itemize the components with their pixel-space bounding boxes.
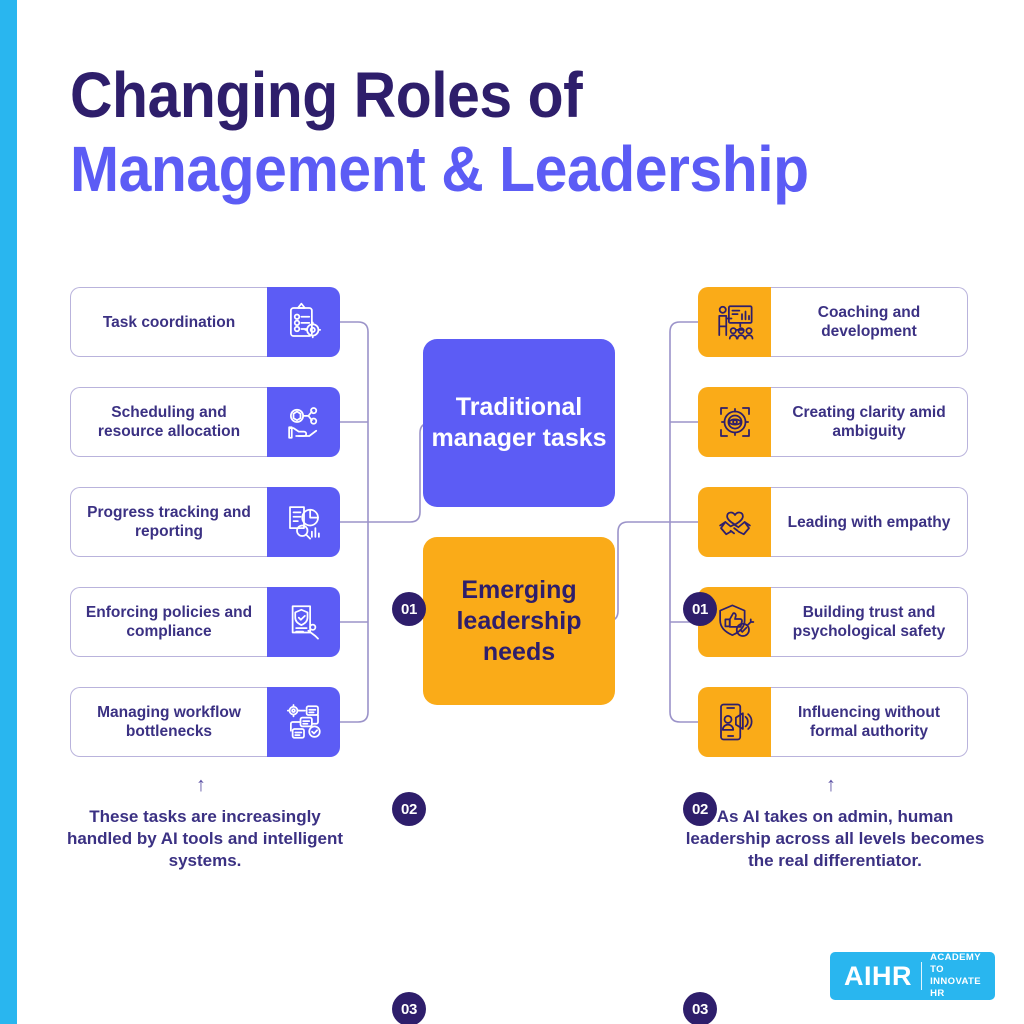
left-card-2-text: Scheduling and resource allocation	[70, 387, 267, 457]
left-badge-1: 01	[392, 592, 426, 626]
logo-tagline: ACADEMY TO INNOVATE HR	[930, 952, 981, 1000]
left-badge-2: 02	[392, 792, 426, 826]
left-card-1[interactable]: Task coordination 01	[70, 287, 340, 357]
left-card-5[interactable]: Managing workflow bottlenecks 05	[70, 687, 340, 757]
left-card-1-text: Task coordination	[70, 287, 267, 357]
left-note-arrow: ↑	[196, 775, 206, 795]
workflow-gear-nodes-icon	[267, 687, 340, 757]
target-eye-focus-icon	[698, 387, 771, 457]
logo-wordmark: AIHR	[844, 963, 912, 990]
right-note: As AI takes on admin, human leadership a…	[680, 806, 990, 872]
left-card-3[interactable]: Progress tracking and reporting 03	[70, 487, 340, 557]
right-card-1-text: Coaching and development	[771, 287, 968, 357]
right-card-4[interactable]: Building trust and psychological safety …	[698, 587, 968, 657]
aihr-logo: AIHR ACADEMY TO INNOVATE HR	[830, 952, 995, 1000]
right-note-arrow: ↑	[826, 775, 836, 795]
left-card-2[interactable]: Scheduling and resource allocation 02	[70, 387, 340, 457]
left-card-4-text: Enforcing policies and compliance	[70, 587, 267, 657]
logo-tagline-line1: ACADEMY TO	[930, 952, 981, 976]
infographic-canvas: Changing Roles of Management & Leadershi…	[0, 0, 1024, 1024]
document-shield-check-icon	[267, 587, 340, 657]
right-card-4-text: Building trust and psychological safety	[771, 587, 968, 657]
right-card-5[interactable]: Influencing without formal authority 05	[698, 687, 968, 757]
right-badge-3: 03	[683, 992, 717, 1024]
title-line-2: Management & Leadership	[70, 132, 898, 206]
logo-tagline-line2: INNOVATE HR	[930, 976, 981, 1000]
right-card-1[interactable]: Coaching and development 01	[698, 287, 968, 357]
megaphone-phone-person-icon	[698, 687, 771, 757]
center-box-emerging[interactable]: Emerging leadership needs	[423, 537, 615, 705]
center-box-emerging-label: Emerging leadership needs	[423, 575, 615, 668]
center-box-traditional-label: Traditional manager tasks	[423, 392, 615, 454]
left-card-3-text: Progress tracking and reporting	[70, 487, 267, 557]
left-accent-stripe	[0, 0, 17, 1024]
right-card-3-text: Leading with empathy	[771, 487, 968, 557]
hand-resource-network-icon	[267, 387, 340, 457]
right-card-5-text: Influencing without formal authority	[771, 687, 968, 757]
left-card-5-text: Managing workflow bottlenecks	[70, 687, 267, 757]
page-title: Changing Roles of Management & Leadershi…	[70, 58, 970, 206]
right-card-2[interactable]: Creating clarity amid ambiguity 02	[698, 387, 968, 457]
left-badge-3: 03	[392, 992, 426, 1024]
presenter-whiteboard-audience-icon	[698, 287, 771, 357]
left-note: These tasks are increasingly handled by …	[55, 806, 355, 872]
left-card-4[interactable]: Enforcing policies and compliance 04	[70, 587, 340, 657]
right-badge-1: 01	[683, 592, 717, 626]
center-box-traditional[interactable]: Traditional manager tasks	[423, 339, 615, 507]
handshake-heart-icon	[698, 487, 771, 557]
right-badge-2: 02	[683, 792, 717, 826]
clipboard-gear-icon	[267, 287, 340, 357]
right-card-2-text: Creating clarity amid ambiguity	[771, 387, 968, 457]
title-line-1: Changing Roles of	[70, 58, 898, 132]
right-card-3[interactable]: Leading with empathy 03	[698, 487, 968, 557]
report-chart-magnifier-icon	[267, 487, 340, 557]
